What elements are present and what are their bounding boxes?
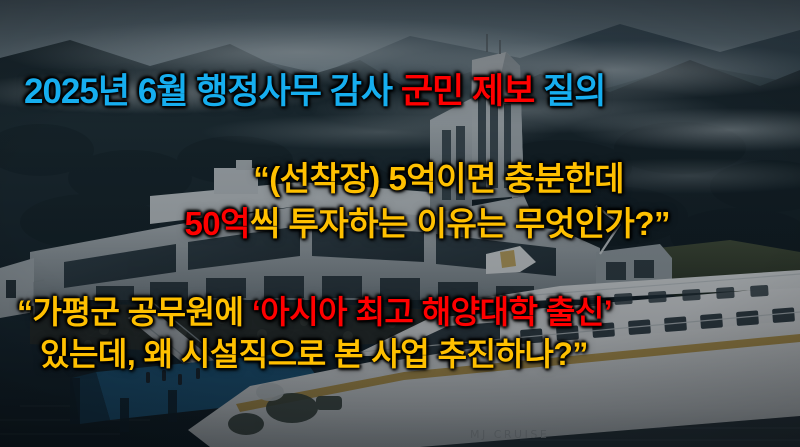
quote-one-line-2: 50억씩 투자하는 이유는 무엇인가?” xyxy=(184,207,670,240)
headline-segment-1: 2025년 6월 행정사무 감사 xyxy=(24,72,401,111)
caption-card: MJ CRUISE 2025년 6월 행정사무 감사 군민 제보 질의 “(선착… xyxy=(0,0,800,447)
quote-one-line-1-segment-1: “(선착장) 5억이면 충분한데 xyxy=(253,160,624,197)
quote-two-line-1: “가평군 공무원에 ‘아시아 최고 해양대학 출신’ xyxy=(17,296,612,328)
quote-two-highlight: ‘아시아 최고 해양대학 출신’ xyxy=(252,294,612,330)
headline: 2025년 6월 행정사무 감사 군민 제보 질의 xyxy=(24,74,605,109)
quote-two-line-1-segment-1: “가평군 공무원에 xyxy=(17,294,252,330)
headline-segment-3: 질의 xyxy=(534,72,605,111)
quote-two-line-2: 있는데, 왜 시설직으로 본 사업 추진하나?” xyxy=(40,338,588,370)
quote-one-amount: 50억 xyxy=(184,205,250,242)
quote-one-line-2-segment-2: 씩 투자하는 이유는 무엇인가?” xyxy=(250,205,670,242)
quote-two-line-2-segment-1: 있는데, 왜 시설직으로 본 사업 추진하나?” xyxy=(40,336,588,372)
quote-one-line-1: “(선착장) 5억이면 충분한데 xyxy=(253,162,624,195)
caption-overlay: 2025년 6월 행정사무 감사 군민 제보 질의 “(선착장) 5억이면 충분… xyxy=(0,0,800,447)
headline-segment-2: 군민 제보 xyxy=(401,72,535,111)
